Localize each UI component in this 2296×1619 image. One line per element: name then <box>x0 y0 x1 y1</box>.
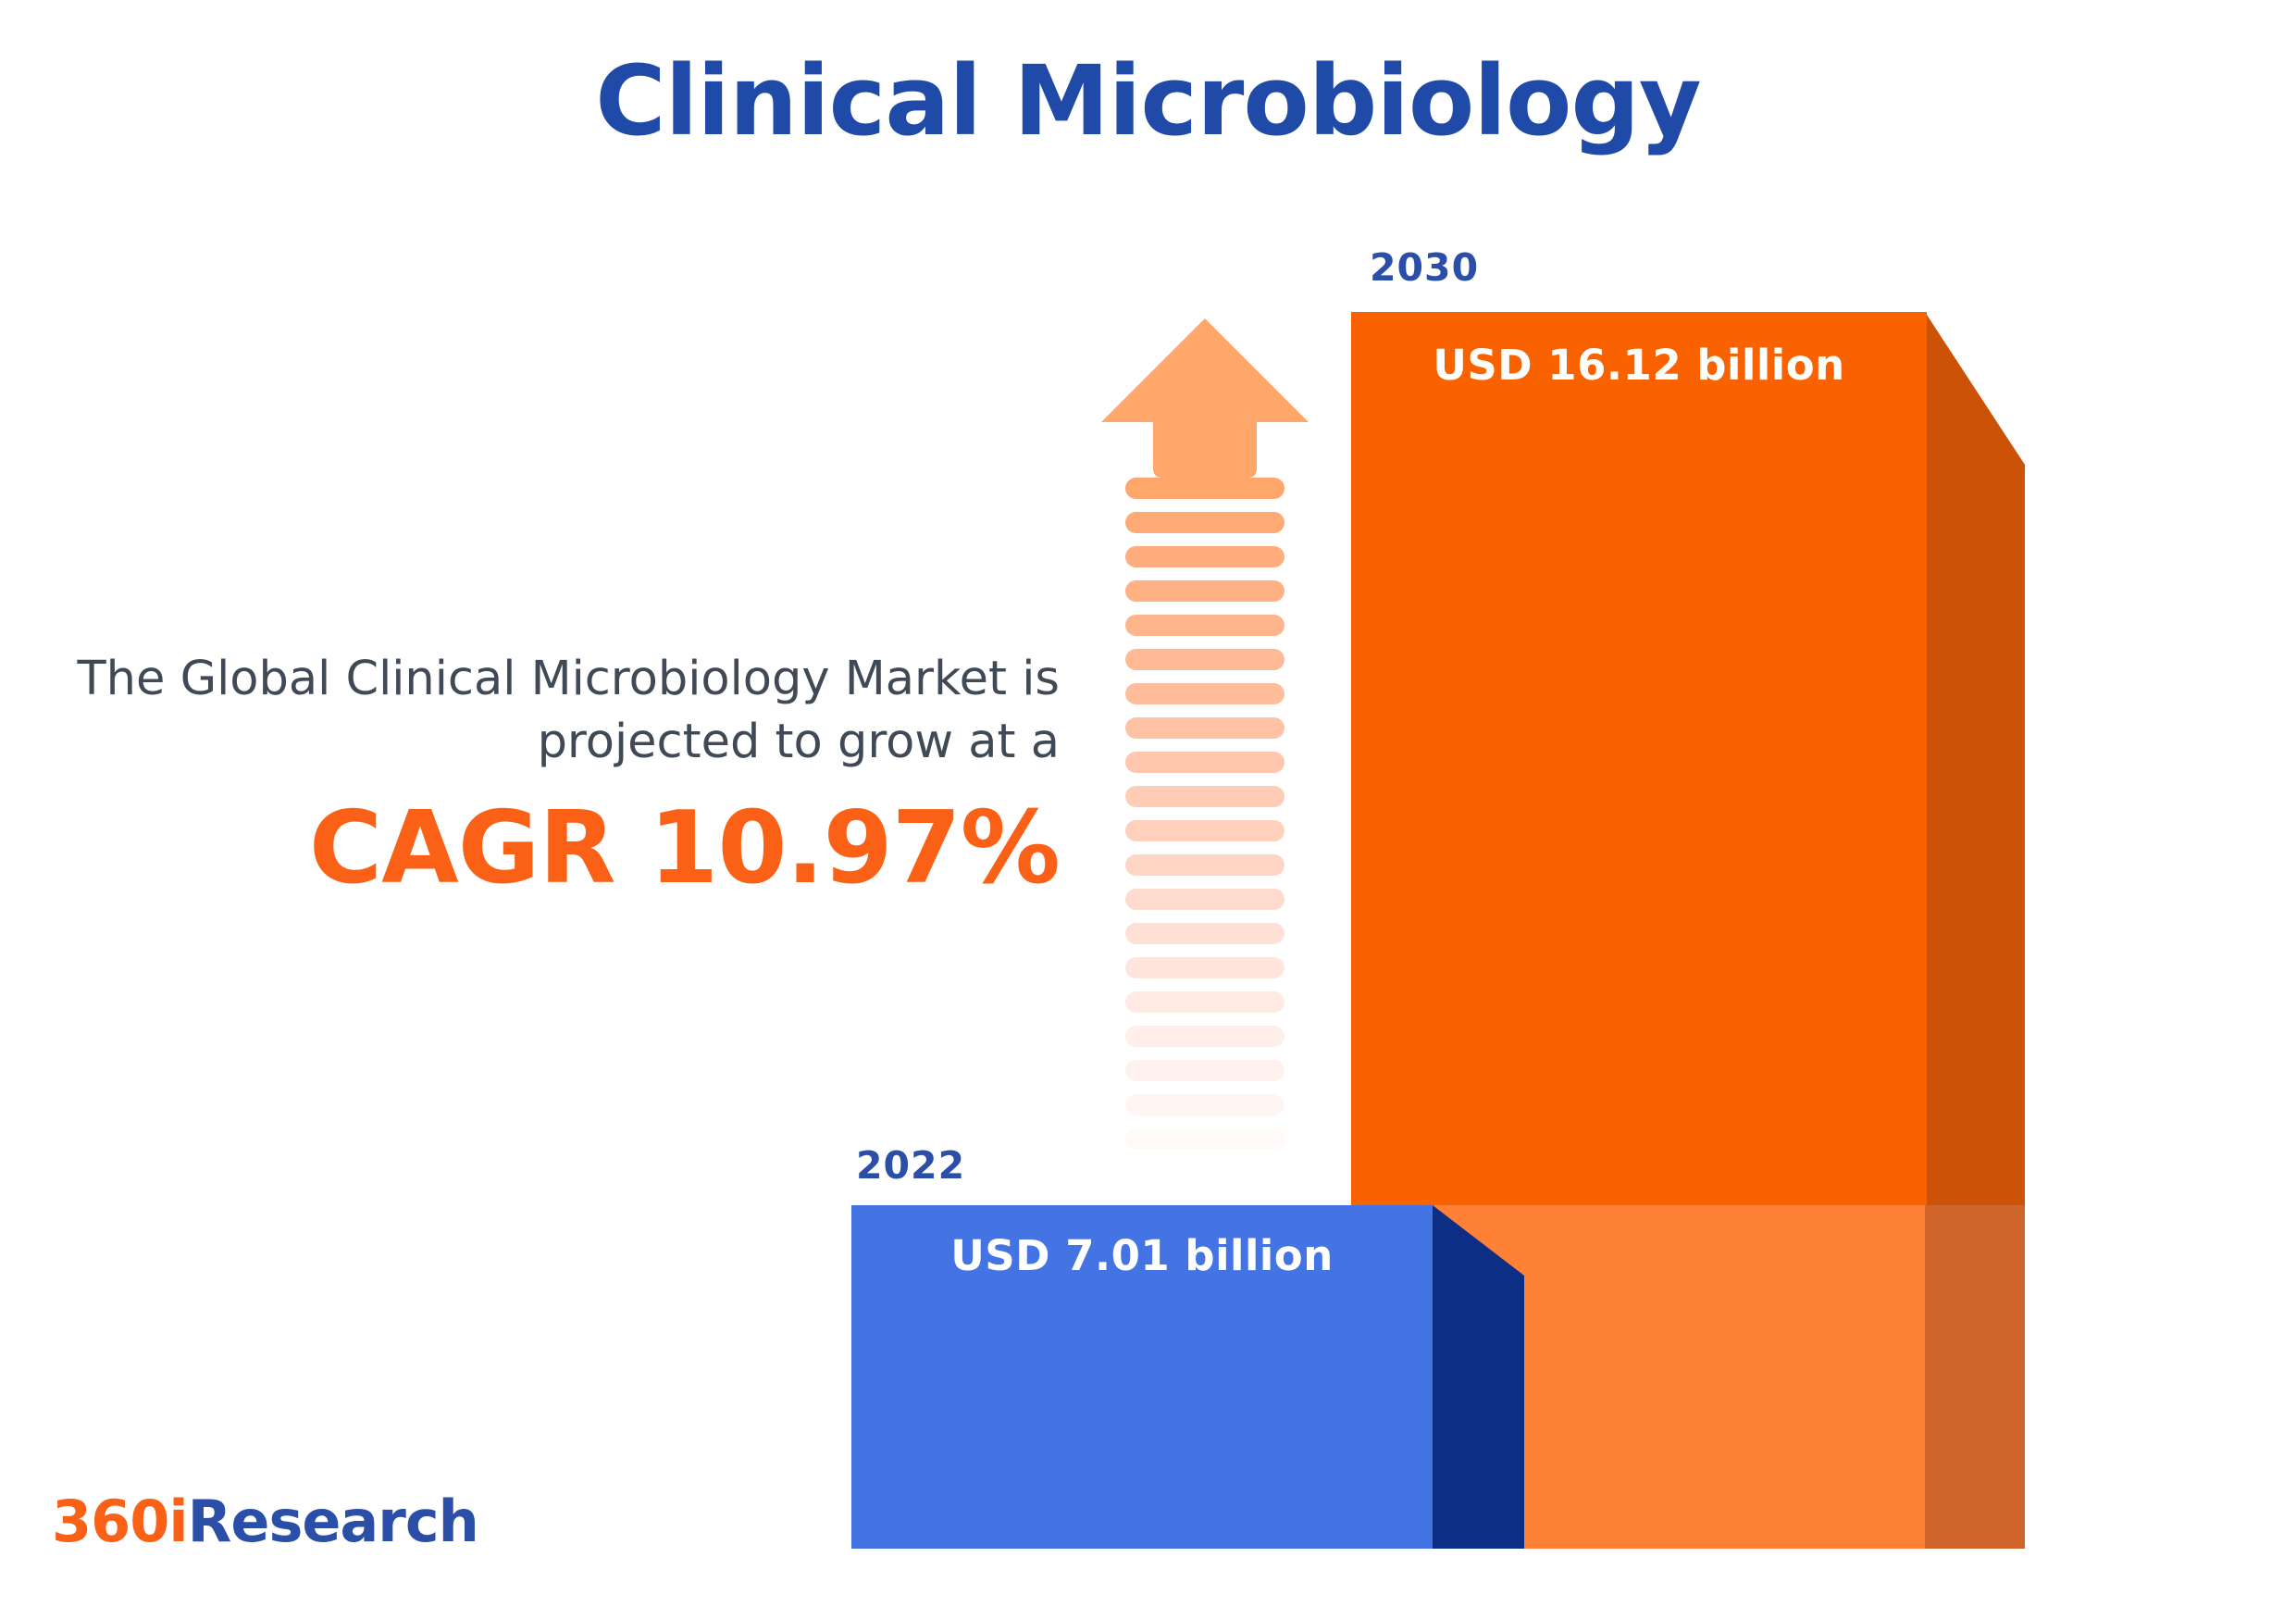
logo-suffix: Research <box>188 1488 478 1555</box>
bar-value-2022: USD 7.01 billion <box>851 1231 1433 1280</box>
bar-label-2022: 2022 <box>856 1143 965 1188</box>
infographic-canvas: Clinical Microbiology The Global Clinica… <box>0 0 2296 1619</box>
bar-overlap-side-2030 <box>1925 1205 2025 1549</box>
logo-prefix: 360i <box>52 1488 188 1555</box>
bar-chart: 2030 USD 16.12 billion 2022 USD 7.01 bil… <box>0 0 2296 1619</box>
bar-label-2030: 2030 <box>1370 245 1479 290</box>
brand-logo: 360iResearch <box>52 1488 478 1555</box>
bar-value-2030: USD 16.12 billion <box>1351 341 1927 390</box>
